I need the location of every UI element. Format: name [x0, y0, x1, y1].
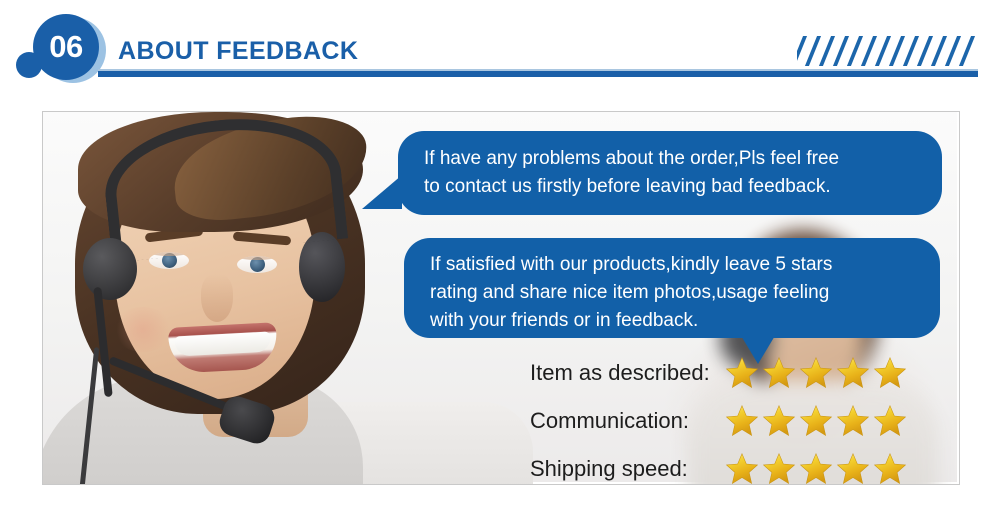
satisfaction-notice-bubble: If satisfied with our products,kindly le…: [404, 238, 940, 338]
rating-label-communication: Communication:: [530, 408, 725, 434]
header-rule-bold: [98, 71, 978, 77]
star-icon: [762, 452, 796, 486]
star-icon: [725, 404, 759, 438]
rating-list: Item as described: Communication: Shippi…: [530, 352, 950, 496]
section-number-text: 06: [49, 29, 82, 65]
satisfaction-notice-text: If satisfied with our products,kindly le…: [430, 251, 916, 335]
feedback-banner: 06 ABOUT FEEDBACK: [0, 0, 1000, 513]
bubble-tail: [362, 175, 402, 209]
headset-earcup-icon: [83, 238, 137, 300]
diagonal-stripes-decoration: [797, 36, 979, 66]
star-icon: [799, 404, 833, 438]
page-title: ABOUT FEEDBACK: [118, 37, 358, 66]
rating-row: Item as described:: [530, 352, 950, 394]
problem-notice-bubble: If have any problems about the order,Pls…: [398, 131, 942, 215]
star-icon: [836, 452, 870, 486]
star-icon: [873, 356, 907, 390]
star-rating-shipping-speed: [725, 452, 907, 486]
section-header: 06 ABOUT FEEDBACK: [0, 0, 1000, 100]
rating-row: Shipping speed:: [530, 448, 950, 490]
star-icon: [725, 356, 759, 390]
star-icon: [799, 452, 833, 486]
rating-label-item-as-described: Item as described:: [530, 360, 725, 386]
star-rating-item-as-described: [725, 356, 907, 390]
star-icon: [873, 404, 907, 438]
star-icon: [725, 452, 759, 486]
star-icon: [836, 404, 870, 438]
star-icon: [762, 404, 796, 438]
stripe: [957, 36, 976, 66]
problem-notice-text: If have any problems about the order,Pls…: [424, 145, 916, 201]
rating-label-shipping-speed: Shipping speed:: [530, 456, 725, 482]
star-icon: [873, 452, 907, 486]
star-rating-communication: [725, 404, 907, 438]
star-icon: [836, 356, 870, 390]
star-icon: [762, 356, 796, 390]
star-icon: [799, 356, 833, 390]
rating-row: Communication:: [530, 400, 950, 442]
section-number-badge: 06: [33, 14, 99, 80]
